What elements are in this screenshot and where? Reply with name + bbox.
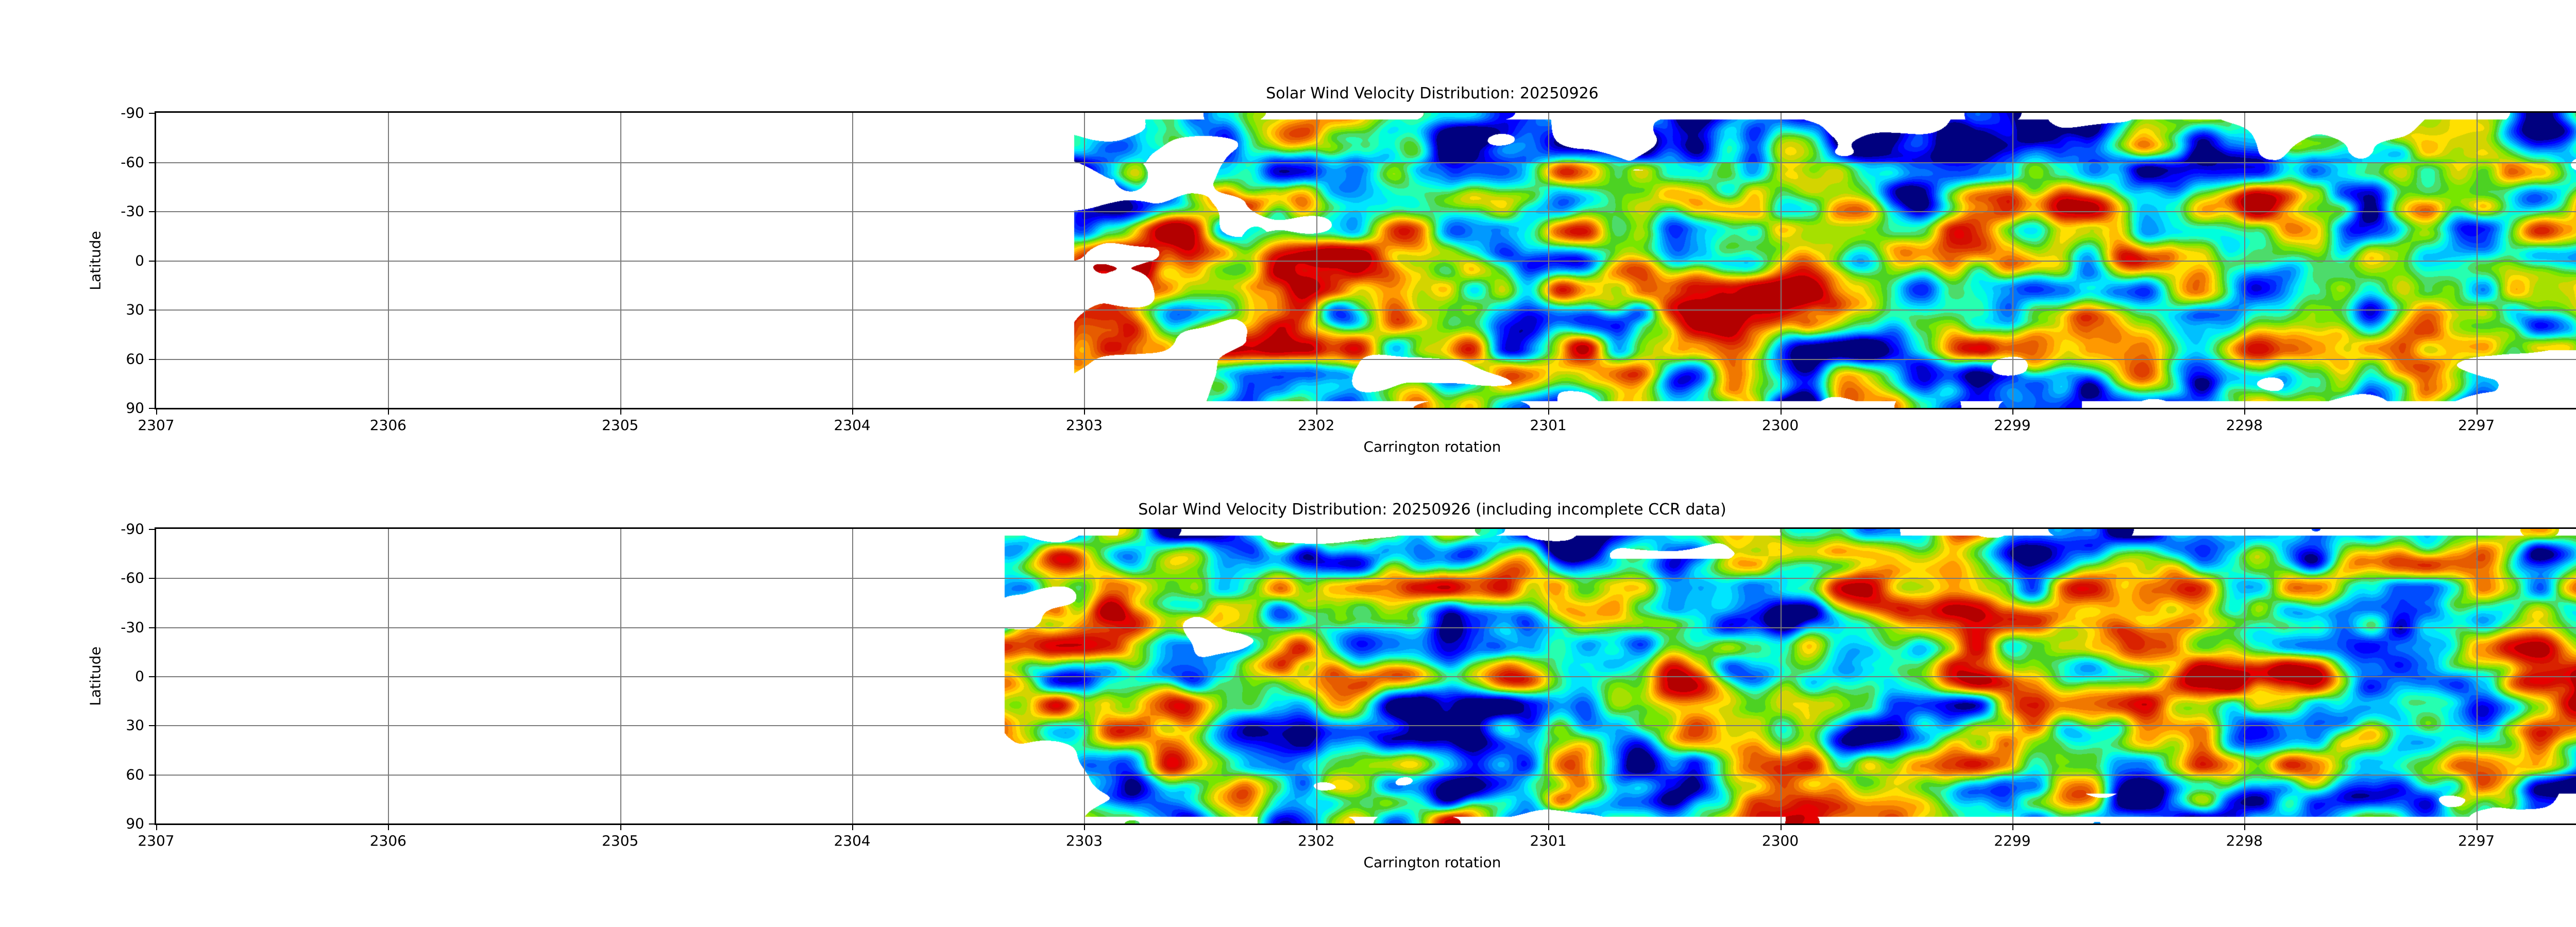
xtick-label: 2303 (1066, 832, 1103, 849)
ytick-mark (149, 775, 155, 776)
ytick-mark (149, 113, 155, 114)
xtick-mark (2244, 824, 2245, 830)
panel-bottom-velocity-heatmap (156, 529, 2576, 823)
panel-bottom-title: Solar Wind Velocity Distribution: 202509… (155, 501, 2576, 519)
ytick-label: 60 (126, 350, 144, 367)
xtick-label: 2306 (370, 417, 406, 434)
ytick-label: -30 (121, 619, 144, 636)
xtick-label: 2304 (834, 417, 870, 434)
xtick-mark (2012, 408, 2013, 415)
panel-bottom-yaxis-label: Latitude (87, 646, 104, 706)
xtick-mark (156, 408, 157, 415)
solar-wind-figure: Solar Wind Velocity Distribution: 202509… (0, 0, 2576, 927)
xtick-label: 2298 (2226, 417, 2263, 434)
xtick-label: 2297 (2458, 417, 2495, 434)
ytick-label: 30 (126, 301, 144, 318)
xtick-mark (156, 824, 157, 830)
ytick-mark (149, 310, 155, 311)
xtick-mark (2477, 824, 2478, 830)
ytick-label: 30 (126, 717, 144, 734)
panel-bottom-plot-area[interactable] (155, 527, 2576, 825)
xtick-label: 2298 (2226, 832, 2263, 849)
xtick-label: 2307 (138, 832, 174, 849)
ytick-label: 0 (135, 252, 144, 269)
xtick-label: 2305 (602, 832, 638, 849)
xtick-label: 2307 (138, 417, 174, 434)
xtick-label: 2302 (1298, 417, 1334, 434)
xtick-mark (1084, 408, 1085, 415)
panel-top-plot-area[interactable] (155, 111, 2576, 409)
xtick-mark (1316, 824, 1317, 830)
ytick-label: 90 (126, 400, 144, 417)
xtick-label: 2300 (1762, 417, 1799, 434)
ytick-label: 60 (126, 766, 144, 783)
panel-top-title: Solar Wind Velocity Distribution: 202509… (155, 84, 2576, 102)
ytick-label: 90 (126, 815, 144, 832)
panel-top-xaxis-label: Carrington rotation (1363, 438, 1501, 455)
xtick-mark (2244, 408, 2245, 415)
ytick-mark (149, 211, 155, 212)
ytick-mark (149, 725, 155, 726)
xtick-mark (1781, 824, 1782, 830)
xtick-label: 2306 (370, 832, 406, 849)
ytick-label: -90 (121, 521, 144, 538)
ytick-mark (149, 676, 155, 677)
xtick-mark (2477, 408, 2478, 415)
ytick-label: -60 (121, 570, 144, 587)
xtick-label: 2302 (1298, 832, 1334, 849)
ytick-label: 0 (135, 668, 144, 685)
xtick-label: 2301 (1530, 417, 1567, 434)
ytick-label: -60 (121, 153, 144, 170)
ytick-mark (149, 359, 155, 360)
panel-top-yaxis-label: Latitude (87, 231, 104, 290)
xtick-label: 2300 (1762, 832, 1799, 849)
xtick-label: 2299 (1994, 417, 2030, 434)
xtick-mark (852, 824, 853, 830)
xtick-mark (2012, 824, 2013, 830)
xtick-mark (1781, 408, 1782, 415)
ytick-mark (149, 408, 155, 409)
xtick-label: 2304 (834, 832, 870, 849)
xtick-label: 2299 (1994, 832, 2030, 849)
xtick-mark (620, 824, 621, 830)
xtick-mark (1084, 824, 1085, 830)
xtick-mark (1316, 408, 1317, 415)
xtick-mark (620, 408, 621, 415)
ytick-mark (149, 261, 155, 262)
xtick-mark (1548, 824, 1549, 830)
xtick-mark (852, 408, 853, 415)
xtick-label: 2305 (602, 417, 638, 434)
xtick-label: 2301 (1530, 832, 1567, 849)
xtick-label: 2303 (1066, 417, 1103, 434)
ytick-mark (149, 823, 155, 825)
xtick-mark (388, 824, 389, 830)
panel-top-velocity-heatmap (156, 113, 2576, 408)
ytick-mark (149, 529, 155, 530)
ytick-mark (149, 578, 155, 579)
xtick-label: 2297 (2458, 832, 2495, 849)
ytick-label: -30 (121, 203, 144, 220)
xtick-mark (1548, 408, 1549, 415)
ytick-label: -90 (121, 105, 144, 122)
ytick-mark (149, 162, 155, 163)
ytick-mark (149, 627, 155, 628)
panel-bottom-xaxis-label: Carrington rotation (1363, 854, 1501, 871)
xtick-mark (388, 408, 389, 415)
